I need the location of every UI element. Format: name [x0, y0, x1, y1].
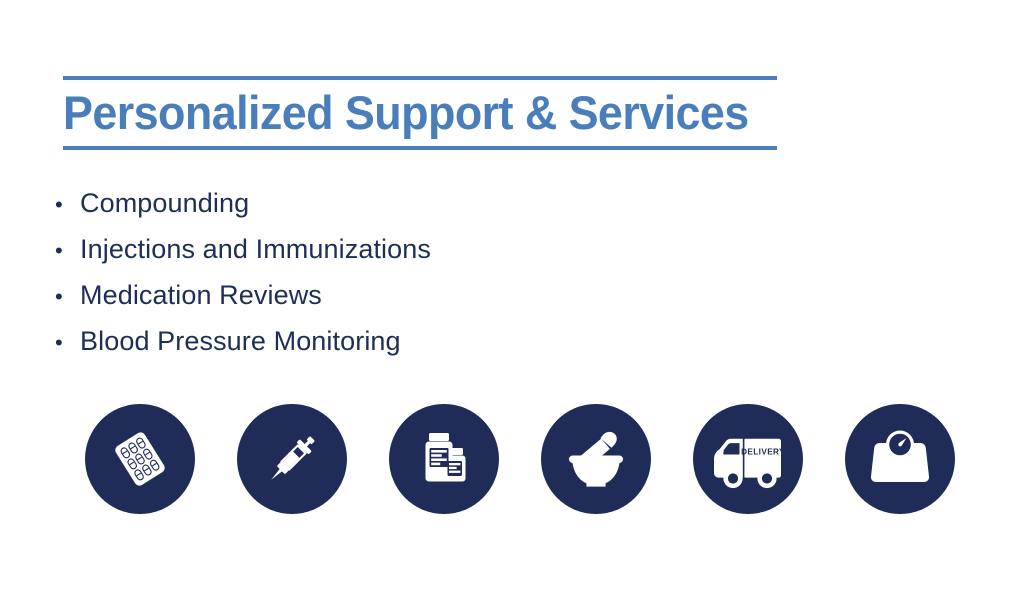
- weight-scale-icon: [864, 423, 936, 495]
- title-block: Personalized Support & Services: [63, 76, 777, 150]
- service-icon-row: DELIVERY: [85, 404, 955, 516]
- icon-badge-mortar-pestle: [541, 404, 651, 514]
- list-item-label: Medication Reviews: [80, 272, 322, 318]
- list-item-label: Compounding: [80, 180, 249, 226]
- blister-pack-icon: [104, 423, 176, 495]
- icon-badge-pill-bottles: [389, 404, 499, 514]
- title-rule-bottom: [63, 146, 777, 150]
- bullet-dot-icon: •: [55, 228, 80, 274]
- pill-bottles-icon: [408, 423, 480, 495]
- icon-badge-syringe: [237, 404, 347, 514]
- delivery-truck-icon: DELIVERY: [708, 423, 788, 495]
- list-item: • Injections and Immunizations: [55, 226, 431, 272]
- truck-body-text: DELIVERY: [741, 448, 785, 457]
- syringe-icon: [256, 423, 328, 495]
- page-title: Personalized Support & Services: [63, 80, 745, 146]
- mortar-pestle-icon: [559, 422, 633, 496]
- bullet-dot-icon: •: [55, 274, 80, 320]
- list-item-label: Blood Pressure Monitoring: [80, 318, 401, 364]
- list-item: • Blood Pressure Monitoring: [55, 318, 431, 364]
- icon-badge-delivery-truck: DELIVERY: [693, 404, 803, 514]
- slide-canvas: Personalized Support & Services • Compou…: [0, 0, 1025, 590]
- list-item: • Compounding: [55, 180, 431, 226]
- list-item: • Medication Reviews: [55, 272, 431, 318]
- services-bullet-list: • Compounding • Injections and Immunizat…: [55, 180, 431, 364]
- list-item-label: Injections and Immunizations: [80, 226, 431, 272]
- icon-badge-weight-scale: [845, 404, 955, 514]
- icon-badge-blister-pack: [85, 404, 195, 514]
- bullet-dot-icon: •: [55, 320, 80, 366]
- bullet-dot-icon: •: [55, 182, 80, 228]
